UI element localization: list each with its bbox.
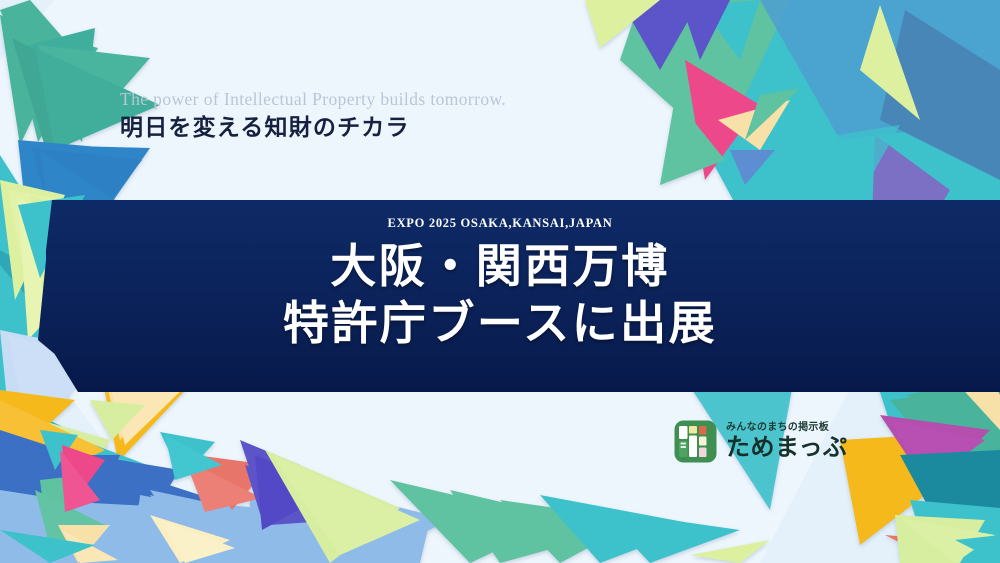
poster-root: The power of Intellectual Property build… bbox=[0, 0, 1000, 563]
logo-name: ためまっぷ bbox=[726, 435, 848, 460]
tamemap-logo-lockup[interactable]: みんなのまちの掲示板 ためまっぷ bbox=[674, 420, 848, 463]
logo-tagline: みんなのまちの掲示板 bbox=[726, 422, 848, 433]
tamemap-board-icon bbox=[674, 420, 717, 463]
navy-banner-shape bbox=[0, 190, 1000, 400]
tagline-block: The power of Intellectual Property build… bbox=[120, 88, 506, 144]
tagline-english: The power of Intellectual Property build… bbox=[120, 88, 506, 112]
tagline-japanese: 明日を変える知財のチカラ bbox=[120, 114, 506, 144]
logo-words: みんなのまちの掲示板 ためまっぷ bbox=[726, 422, 848, 460]
